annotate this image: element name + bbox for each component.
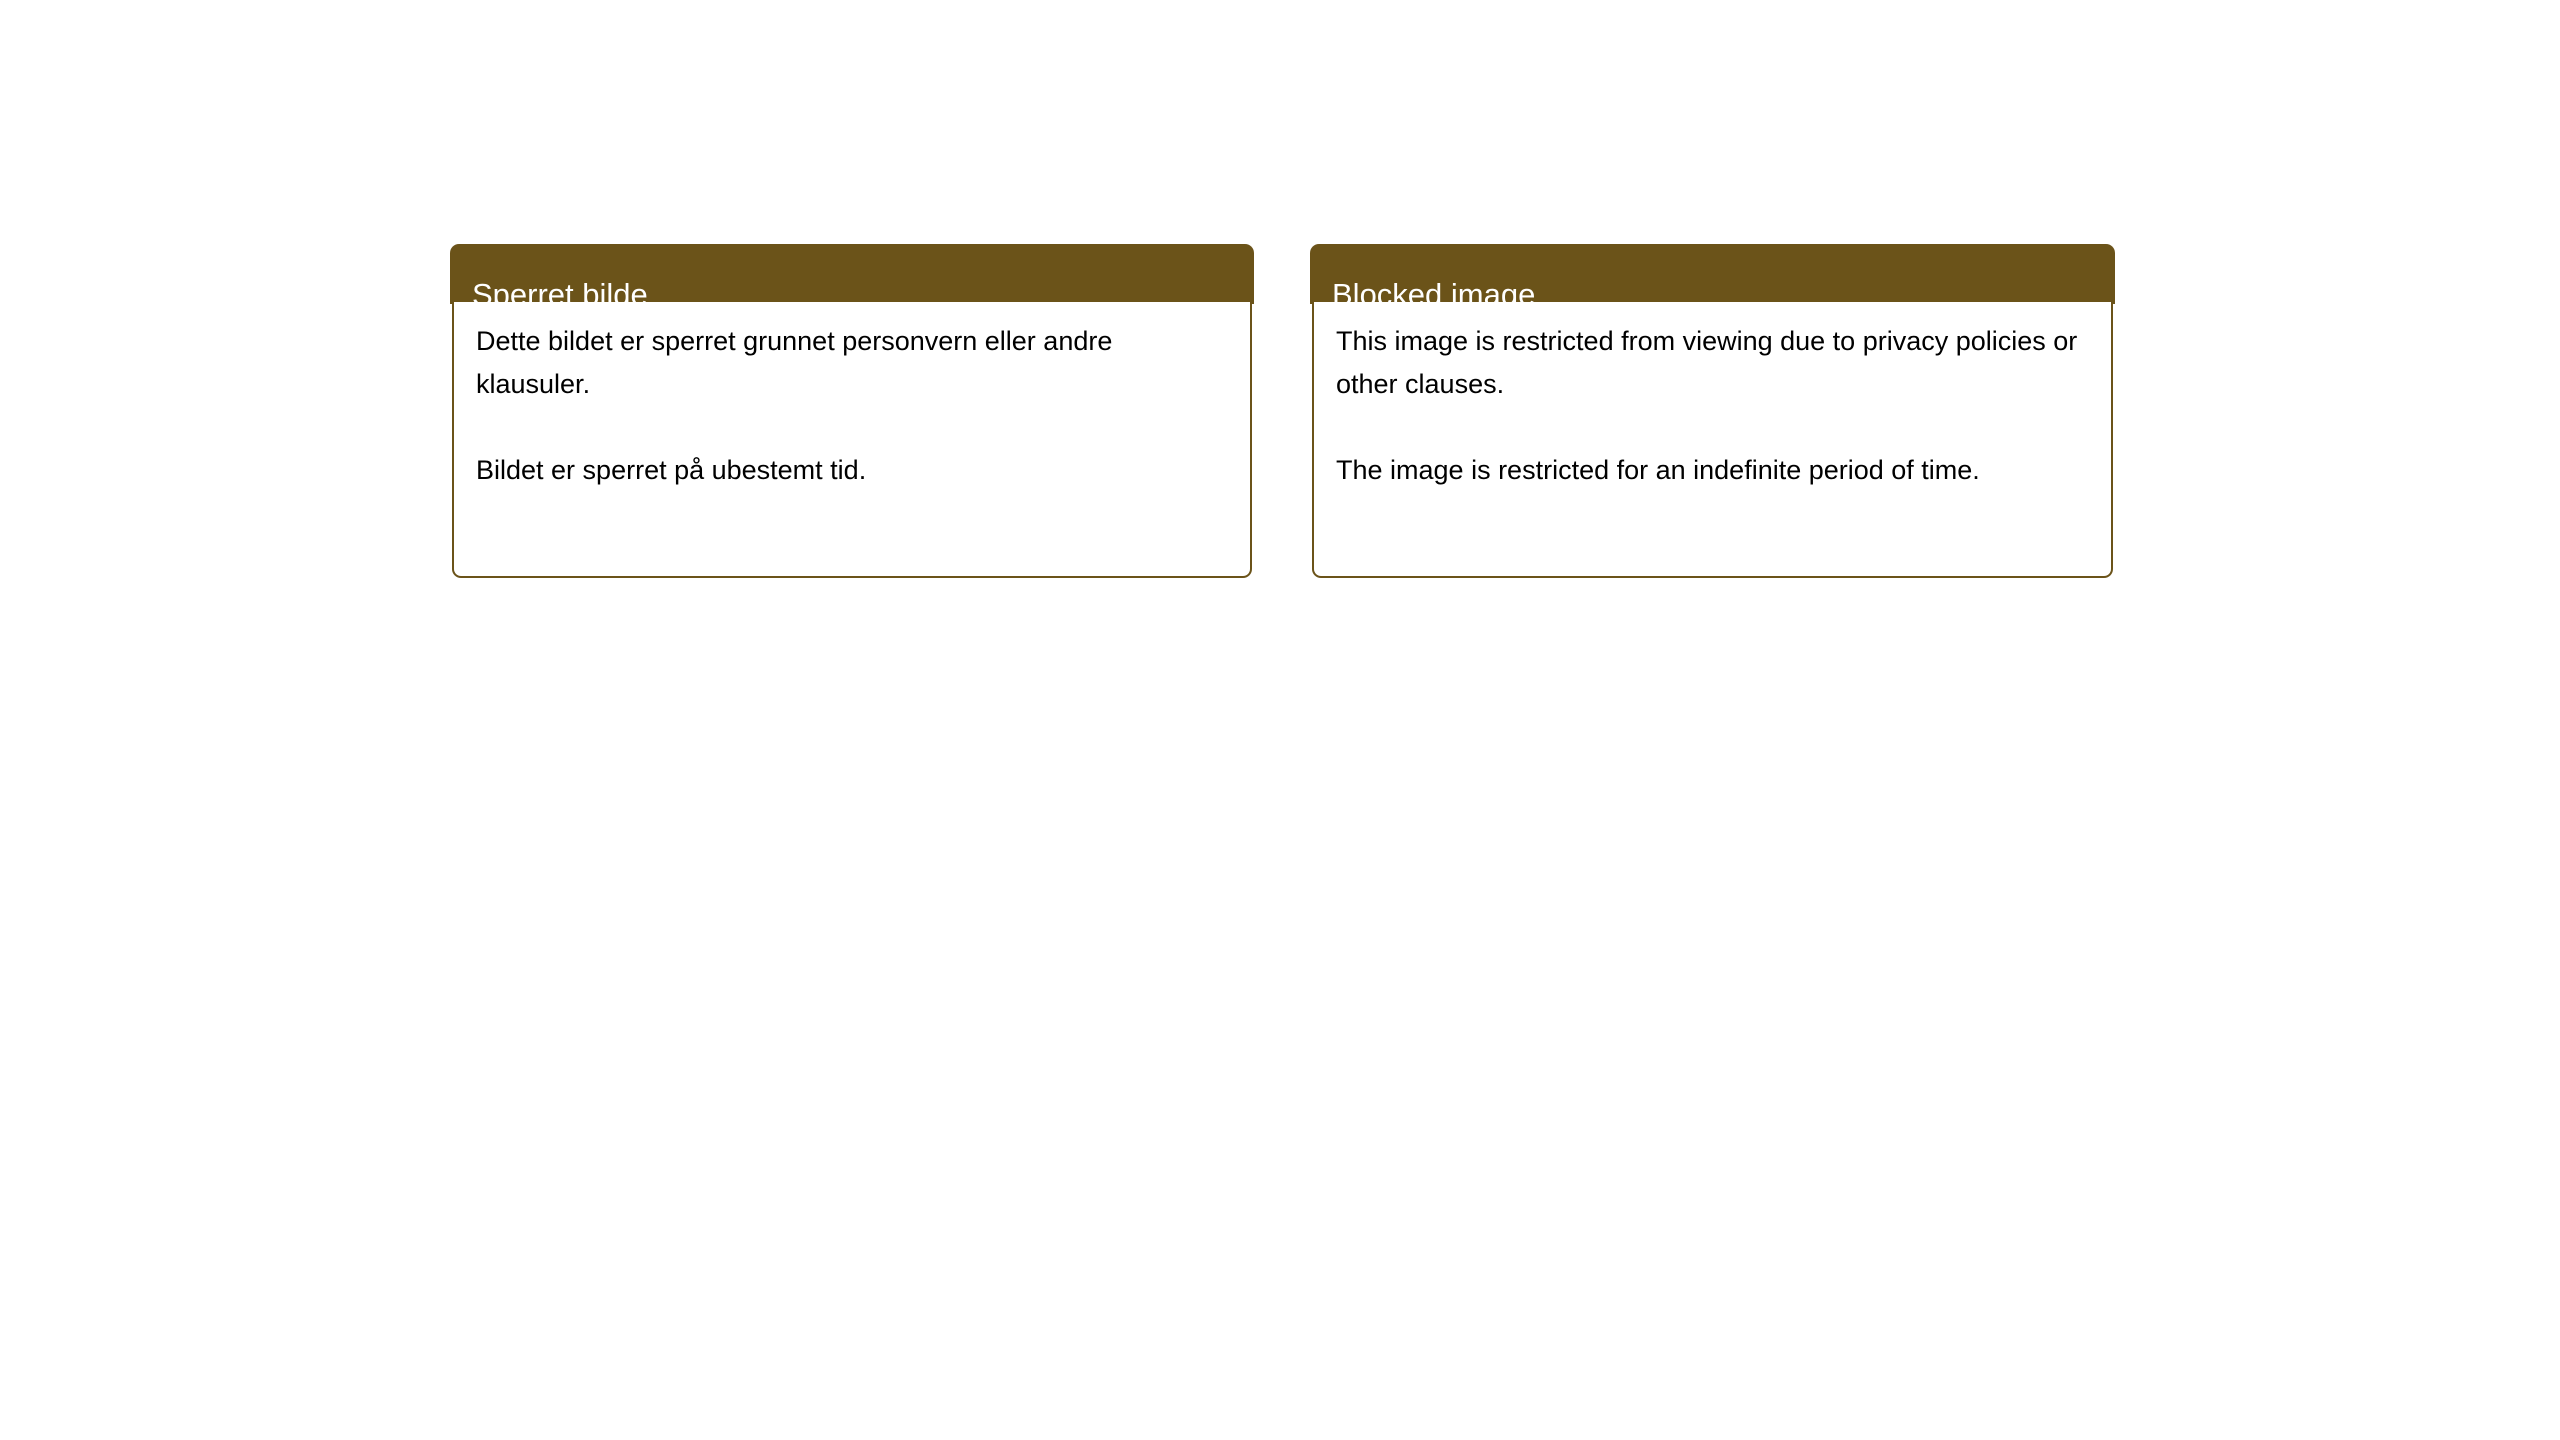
notice-paragraph-reason-en: This image is restricted from viewing du… xyxy=(1336,320,2089,406)
notice-paragraph-duration-no: Bildet er sperret på ubestemt tid. xyxy=(476,449,1228,492)
notice-paragraph-duration-en: The image is restricted for an indefinit… xyxy=(1336,449,2089,492)
notice-paragraph-reason-no: Dette bildet er sperret grunnet personve… xyxy=(476,320,1228,406)
notice-header-en: Blocked image xyxy=(1310,244,2115,304)
blocked-image-notice-card-en: Blocked image This image is restricted f… xyxy=(1310,244,2115,578)
notice-body-en: This image is restricted from viewing du… xyxy=(1312,302,2113,578)
blocked-image-notice-card-no: Sperret bilde Dette bildet er sperret gr… xyxy=(450,244,1254,578)
notice-body-no: Dette bildet er sperret grunnet personve… xyxy=(452,302,1252,578)
notice-header-no: Sperret bilde xyxy=(450,244,1254,304)
page-root: Sperret bilde Dette bildet er sperret gr… xyxy=(0,0,2560,1440)
